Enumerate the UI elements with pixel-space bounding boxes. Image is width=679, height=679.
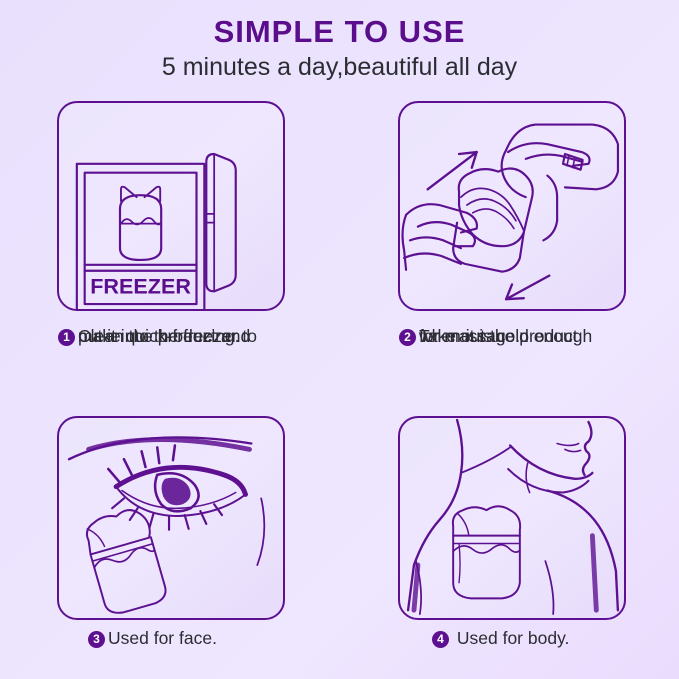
step-3-caption: 3Used for face. — [88, 627, 348, 649]
step-1-illustration-panel: FREEZER — [57, 101, 285, 311]
step-2-illustration-panel — [398, 101, 626, 311]
page-title: SIMPLE TO USE — [0, 14, 679, 50]
step-1-caption: 1Clean the product and put it into the f… — [58, 325, 338, 347]
hands-holding-product-icon — [400, 103, 624, 309]
step-4-illustration-panel — [398, 416, 626, 620]
freezer-with-product-icon: FREEZER — [59, 103, 283, 309]
freezer-label: FREEZER — [90, 273, 191, 298]
neck-body-massage-icon — [400, 418, 624, 618]
step-3-number-badge: 3 — [88, 631, 105, 648]
step-4-number-badge: 4 — [432, 631, 449, 648]
page-subtitle: 5 minutes a day,beautiful all day — [0, 53, 679, 82]
step-1-number-badge: 1 — [58, 329, 75, 346]
step-4-caption: 4 Used for body. — [432, 627, 679, 649]
step-2-number-badge: 2 — [399, 329, 416, 346]
step-3-illustration-panel — [57, 416, 285, 620]
step-1-line-3: make quick-freezing. — [78, 325, 338, 347]
instructions-infographic: SIMPLE TO USE 5 minutes a day,beautiful … — [0, 0, 679, 679]
step-4-line-1: Used for body. — [457, 628, 570, 648]
step-2-caption: 2Take out the product when it is cold en… — [399, 325, 679, 347]
eye-face-massage-icon — [59, 418, 283, 618]
step-3-line-1: Used for face. — [108, 628, 217, 648]
